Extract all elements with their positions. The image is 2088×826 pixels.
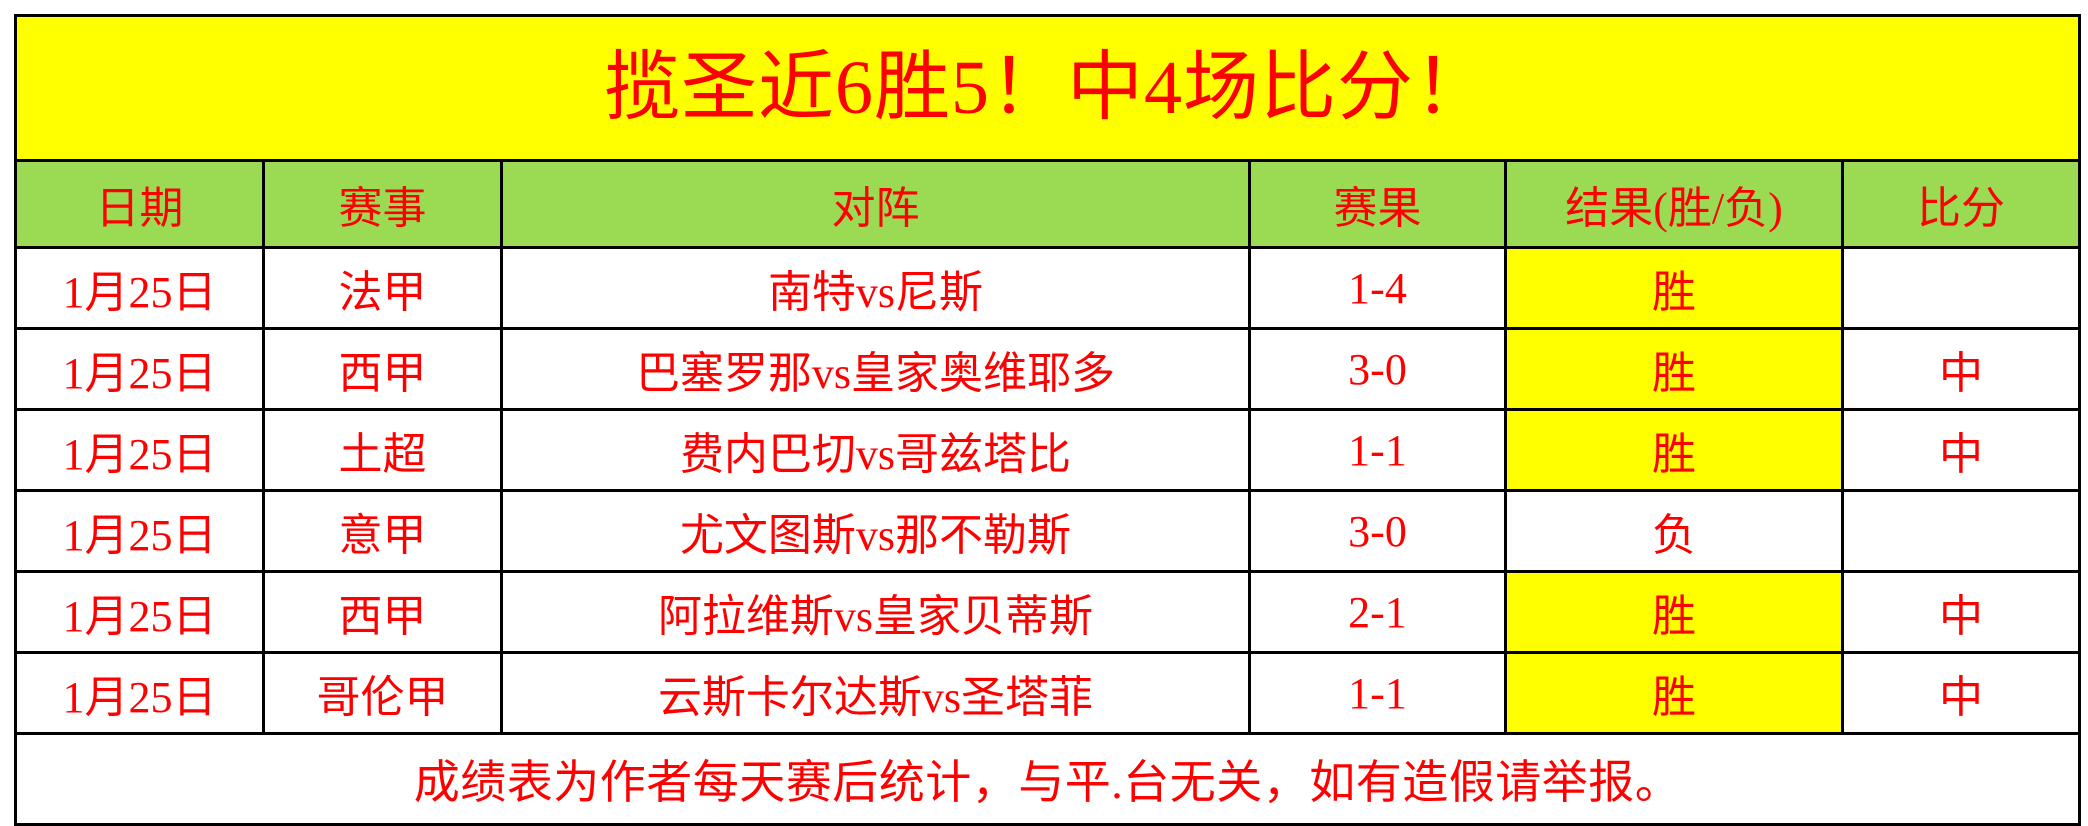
cell-score: [1843, 491, 2080, 572]
cell-match: 巴塞罗那vs皇家奥维耶多: [502, 329, 1250, 410]
cell-date: 1月25日: [16, 653, 264, 734]
cell-match: 尤文图斯vs那不勒斯: [502, 491, 1250, 572]
cell-date: 1月25日: [16, 491, 264, 572]
table-row: 1月25日 西甲 巴塞罗那vs皇家奥维耶多 3-0 胜 中: [16, 329, 2080, 410]
cell-league: 土超: [264, 410, 502, 491]
cell-date: 1月25日: [16, 329, 264, 410]
table-row: 1月25日 土超 费内巴切vs哥兹塔比 1-1 胜 中: [16, 410, 2080, 491]
cell-winloss: 胜: [1506, 410, 1843, 491]
column-header-league: 赛事: [264, 161, 502, 248]
score-sheet: 揽圣近6胜5！中4场比分！ 日期 赛事 对阵 赛果 结果(胜/负) 比分 1月2…: [0, 14, 2088, 782]
table-row: 1月25日 哥伦甲 云斯卡尔达斯vs圣塔菲 1-1 胜 中: [16, 653, 2080, 734]
cell-match: 费内巴切vs哥兹塔比: [502, 410, 1250, 491]
cell-winloss: 胜: [1506, 653, 1843, 734]
cell-result: 3-0: [1250, 329, 1506, 410]
footer-row: 成绩表为作者每天赛后统计，与平.台无关，如有造假请举报。: [16, 734, 2080, 825]
cell-result: 3-0: [1250, 491, 1506, 572]
cell-match: 阿拉维斯vs皇家贝蒂斯: [502, 572, 1250, 653]
cell-result: 1-4: [1250, 248, 1506, 329]
cell-result: 1-1: [1250, 410, 1506, 491]
cell-match: 云斯卡尔达斯vs圣塔菲: [502, 653, 1250, 734]
cell-date: 1月25日: [16, 410, 264, 491]
cell-winloss: 胜: [1506, 329, 1843, 410]
column-header-winloss: 结果(胜/负): [1506, 161, 1843, 248]
cell-score: 中: [1843, 329, 2080, 410]
cell-score: [1843, 248, 2080, 329]
page-title: 揽圣近6胜5！中4场比分！: [16, 16, 2080, 161]
cell-score: 中: [1843, 410, 2080, 491]
cell-date: 1月25日: [16, 248, 264, 329]
cell-score: 中: [1843, 572, 2080, 653]
cell-winloss: 胜: [1506, 248, 1843, 329]
cell-result: 1-1: [1250, 653, 1506, 734]
cell-league: 法甲: [264, 248, 502, 329]
table-row: 1月25日 西甲 阿拉维斯vs皇家贝蒂斯 2-1 胜 中: [16, 572, 2080, 653]
cell-date: 1月25日: [16, 572, 264, 653]
cell-match: 南特vs尼斯: [502, 248, 1250, 329]
cell-winloss: 负: [1506, 491, 1843, 572]
cell-score: 中: [1843, 653, 2080, 734]
table-row: 1月25日 法甲 南特vs尼斯 1-4 胜: [16, 248, 2080, 329]
column-header-date: 日期: [16, 161, 264, 248]
cell-winloss: 胜: [1506, 572, 1843, 653]
cell-league: 意甲: [264, 491, 502, 572]
column-header-match: 对阵: [502, 161, 1250, 248]
cell-league: 西甲: [264, 329, 502, 410]
match-results-table: 揽圣近6胜5！中4场比分！ 日期 赛事 对阵 赛果 结果(胜/负) 比分 1月2…: [14, 14, 2081, 826]
cell-league: 西甲: [264, 572, 502, 653]
header-row: 日期 赛事 对阵 赛果 结果(胜/负) 比分: [16, 161, 2080, 248]
cell-league: 哥伦甲: [264, 653, 502, 734]
footer-note: 成绩表为作者每天赛后统计，与平.台无关，如有造假请举报。: [16, 734, 2080, 825]
column-header-result: 赛果: [1250, 161, 1506, 248]
table-row: 1月25日 意甲 尤文图斯vs那不勒斯 3-0 负: [16, 491, 2080, 572]
cell-result: 2-1: [1250, 572, 1506, 653]
title-row: 揽圣近6胜5！中4场比分！: [16, 16, 2080, 161]
column-header-score: 比分: [1843, 161, 2080, 248]
